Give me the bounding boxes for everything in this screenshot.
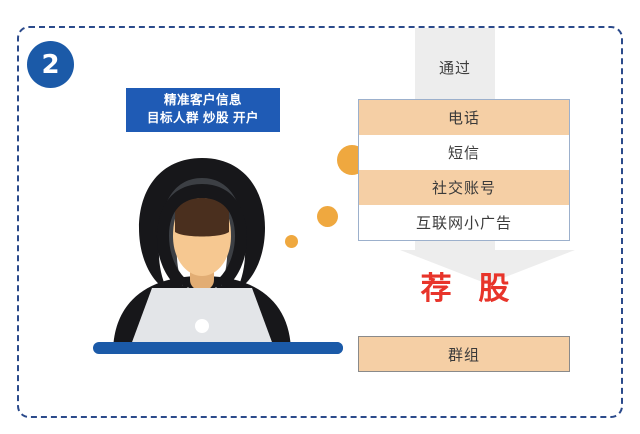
- channel-list: 电话 短信 社交账号 互联网小广告: [358, 99, 570, 241]
- hacker-illustration: [95, 148, 310, 353]
- accent-dot-medium: [317, 206, 338, 227]
- channel-row-internet-ads[interactable]: 互联网小广告: [359, 205, 569, 240]
- caption-line-1: 精准客户信息: [164, 93, 242, 109]
- channel-label-phone: 电话: [448, 107, 480, 128]
- group-box[interactable]: 群组: [358, 336, 570, 372]
- laptop-logo-icon: [195, 319, 209, 333]
- channel-label-sms: 短信: [448, 142, 480, 163]
- channel-row-social-account[interactable]: 社交账号: [359, 170, 569, 205]
- channel-label-internet-ads: 互联网小广告: [416, 212, 512, 233]
- caption-line-2: 目标人群 炒股 开户: [147, 111, 259, 127]
- group-label: 群组: [448, 344, 480, 365]
- channel-row-phone[interactable]: 电话: [359, 100, 569, 135]
- eye-shadow-band: [175, 198, 229, 237]
- desk-end-dot: [331, 342, 343, 354]
- accent-dot-small: [285, 235, 298, 248]
- channel-label-social-account: 社交账号: [432, 177, 496, 198]
- outcome-headline: 荐 股: [380, 272, 550, 306]
- step-number-label: 2: [41, 52, 59, 78]
- infographic-canvas: 2 精准客户信息 目标人群 炒股 开户 通过: [0, 0, 640, 434]
- desk-bar: [93, 342, 343, 354]
- hacker-svg: [95, 148, 310, 353]
- target-info-caption-box: 精准客户信息 目标人群 炒股 开户: [126, 88, 280, 132]
- via-label: 通过: [395, 57, 515, 78]
- channel-row-sms[interactable]: 短信: [359, 135, 569, 170]
- step-number-badge: 2: [27, 41, 74, 88]
